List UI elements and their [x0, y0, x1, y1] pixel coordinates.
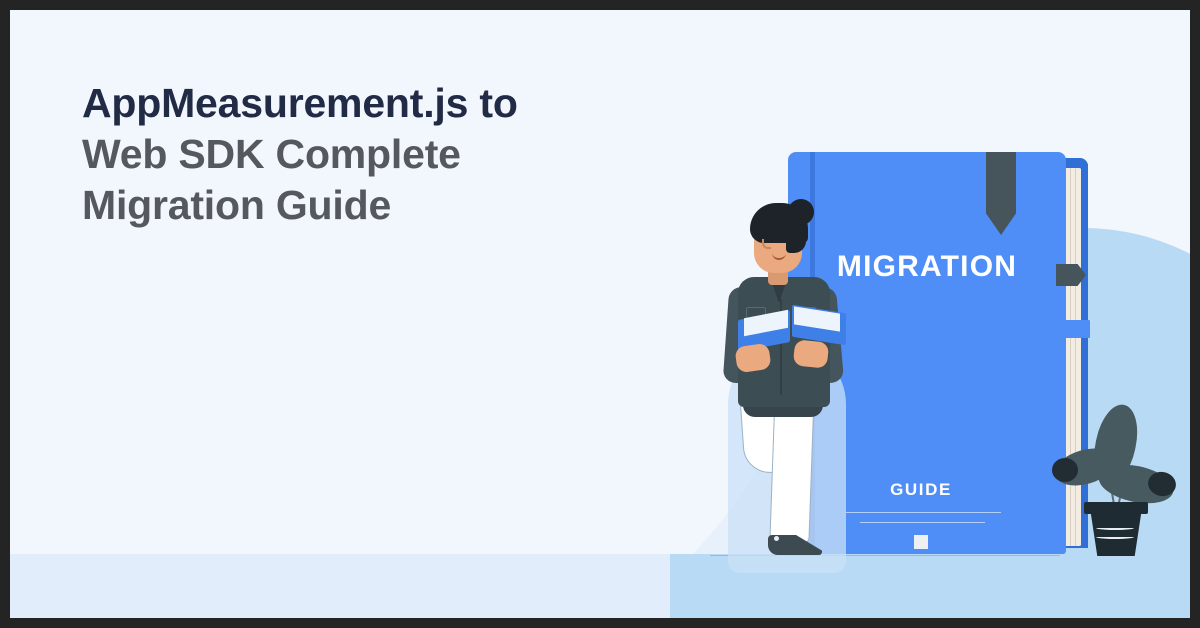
- plant-pot-detail: [1096, 535, 1134, 539]
- held-open-book-icon: [738, 307, 846, 349]
- plant-illustration: [1052, 408, 1182, 560]
- person-eyebrow: [783, 229, 793, 231]
- person-hand-right: [793, 339, 830, 368]
- book-cover-square: [914, 535, 928, 549]
- page-title-line-2: Web SDK Complete: [82, 129, 642, 180]
- page-tab-blue-icon: [1058, 320, 1090, 338]
- person-hair-bun: [788, 199, 814, 225]
- banner-canvas: AppMeasurement.js to Web SDK Complete Mi…: [10, 10, 1190, 618]
- plant-pot: [1090, 508, 1142, 556]
- page-title: AppMeasurement.js to Web SDK Complete Mi…: [82, 78, 642, 230]
- banner-frame: AppMeasurement.js to Web SDK Complete Mi…: [0, 0, 1200, 628]
- person-eye: [786, 235, 791, 240]
- plant-pot-detail: [1096, 526, 1134, 530]
- person-eyebrow: [763, 229, 773, 231]
- person-shoe-detail: [774, 536, 779, 541]
- plant-leaf-tip: [1052, 458, 1078, 482]
- person-nose: [762, 239, 771, 249]
- person-illustration: [710, 195, 900, 573]
- bookmark-ribbon-icon: [986, 152, 1016, 235]
- page-title-line-1: AppMeasurement.js to: [82, 78, 642, 129]
- page-title-line-3: Migration Guide: [82, 180, 642, 231]
